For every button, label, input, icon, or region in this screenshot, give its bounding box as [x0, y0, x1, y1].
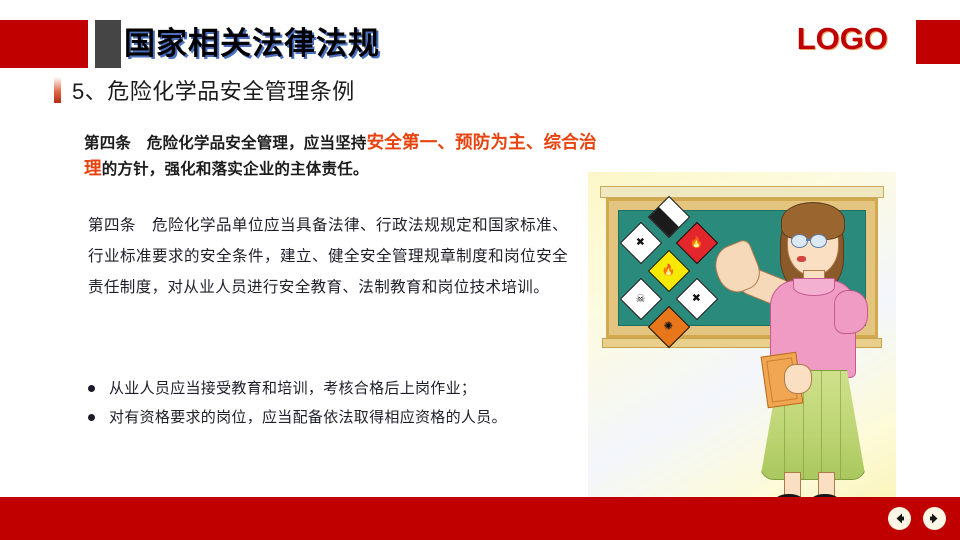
- bullet-list: 从业人员应当接受教育和培训，考核合格后上岗作业； 对有资格要求的岗位，应当配备依…: [88, 374, 588, 432]
- logo-red-block: [916, 20, 960, 64]
- list-item-label: 对有资格要求的岗位，应当配备依法取得相应资格的人员。: [109, 403, 507, 432]
- teacher-glasses-right: [810, 234, 827, 248]
- subtitle: 5、危险化学品安全管理条例: [54, 74, 355, 106]
- next-slide-button[interactable]: [923, 507, 946, 530]
- teacher-blackboard-illustration: ✖ 🔥 🔥 ☠ ✖ ✺: [588, 172, 896, 512]
- teacher-holding-hand: [784, 364, 812, 394]
- arrow-right-icon: [928, 512, 941, 525]
- list-item: 对有资格要求的岗位，应当配备依法取得相应资格的人员。: [88, 403, 588, 432]
- slide-root: 国家相关法律法规 LOGO 5、危险化学品安全管理条例 第四条 危险化学品安全管…: [0, 0, 960, 540]
- list-item: 从业人员应当接受教育和培训，考核合格后上岗作业；: [88, 374, 588, 403]
- prev-slide-button[interactable]: [888, 507, 911, 530]
- subtitle-accent-bar: [54, 77, 61, 103]
- teacher-mouth: [797, 256, 806, 262]
- bullet-dot-icon: [88, 385, 95, 392]
- footer-bar: [0, 497, 960, 540]
- arrow-left-icon: [893, 512, 906, 525]
- list-item-label: 从业人员应当接受教育和培训，考核合格后上岗作业；: [109, 374, 476, 403]
- logo-text: LOGO: [797, 21, 888, 57]
- header-gray-block: [95, 20, 121, 68]
- subtitle-label: 5、危险化学品安全管理条例: [72, 74, 355, 106]
- body-paragraph: 第四条 危险化学品单位应当具备法律、行政法规规定和国家标准、行业标准要求的安全条…: [88, 210, 568, 303]
- teacher-glasses-left: [791, 234, 808, 248]
- teacher-collar: [793, 278, 835, 296]
- header-red-block: [0, 20, 88, 68]
- teacher-sleeve: [834, 290, 868, 334]
- page-title: 国家相关法律法规: [124, 20, 380, 68]
- teacher-glasses-bridge: [806, 239, 811, 241]
- lead-suffix: 的方针，强化和落实企业的主体责任。: [102, 161, 369, 178]
- blackboard-top-rail: [600, 186, 884, 198]
- lead-paragraph: 第四条 危险化学品安全管理，应当坚持安全第一、预防为主、综合治理的方针，强化和落…: [84, 130, 604, 182]
- lead-prefix: 第四条 危险化学品安全管理，应当坚持: [84, 135, 367, 152]
- bullet-dot-icon: [88, 414, 95, 421]
